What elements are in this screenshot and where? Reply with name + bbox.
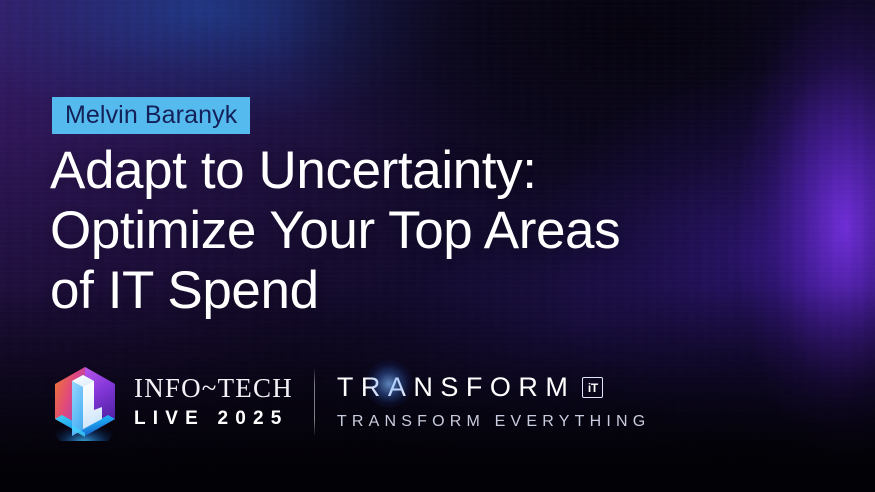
infotech-wordmark: INFO~TECH LIVE 2025 — [134, 374, 293, 431]
title-line-2: Optimize Your Top Areas — [50, 201, 750, 261]
infotech-event: LIVE 2025 — [134, 408, 293, 431]
transform-lockup: TRANSFORM iT TRANSFORM EVERYTHING — [337, 373, 651, 431]
infotech-name: INFO~TECH — [134, 374, 293, 403]
title-line-3: of IT Spend — [50, 261, 750, 321]
infotech-hexagon-cube-icon — [50, 363, 124, 441]
transform-tagline: TRANSFORM EVERYTHING — [337, 412, 651, 431]
speaker-name-badge: Melvin Baranyk — [52, 97, 250, 134]
title-slide: Melvin Baranyk Adapt to Uncertainty: Opt… — [0, 0, 875, 492]
transform-it-badge-icon: iT — [582, 377, 603, 398]
footer-logo-lockup: INFO~TECH LIVE 2025 TRANSFORM iT TRANSFO… — [50, 362, 650, 442]
transform-wordmark-row: TRANSFORM iT — [337, 373, 651, 403]
title-line-1: Adapt to Uncertainty: — [50, 141, 750, 201]
lockup-divider — [314, 369, 315, 435]
page-title: Adapt to Uncertainty: Optimize Your Top … — [50, 141, 750, 321]
transform-wordmark: TRANSFORM — [337, 373, 576, 403]
slide-content: Melvin Baranyk Adapt to Uncertainty: Opt… — [0, 0, 875, 492]
